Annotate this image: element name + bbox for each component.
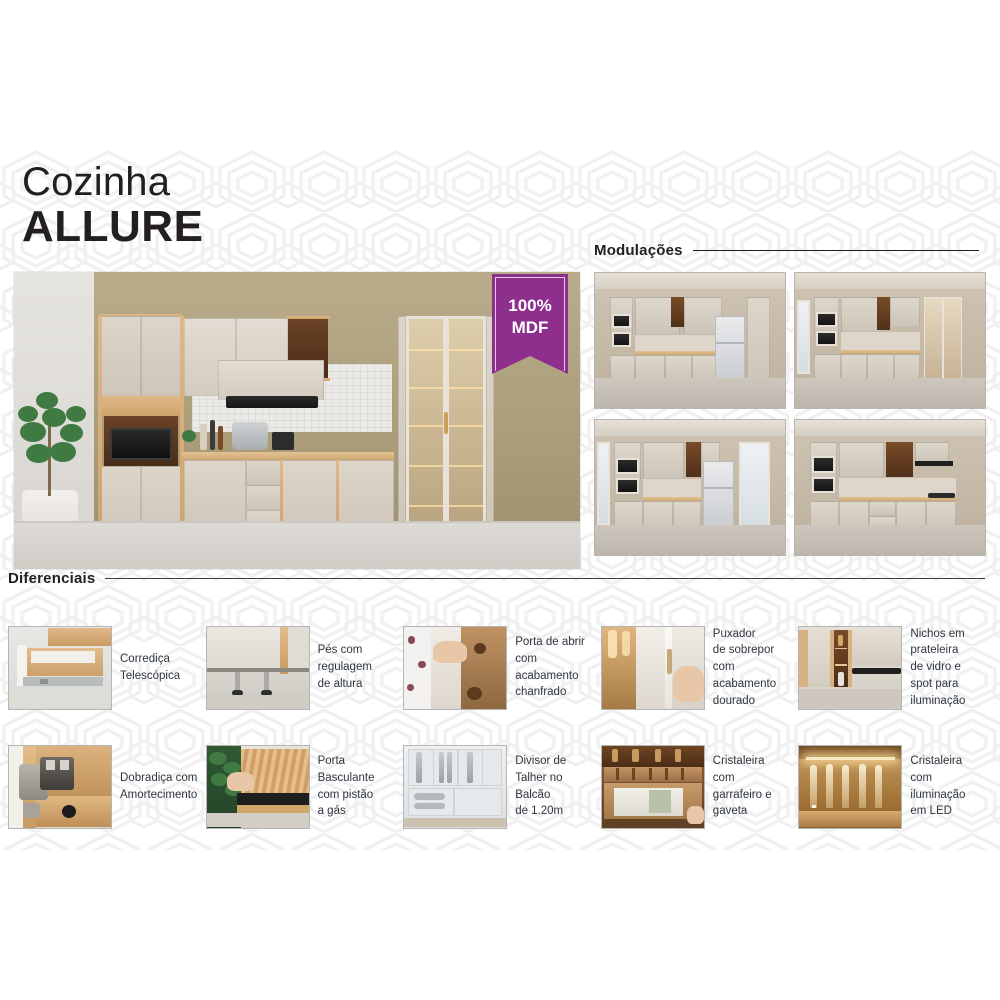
feature-label: CorrediçaTelescópica — [120, 651, 180, 684]
product-sheet-page: Cozinha ALLURE — [0, 150, 1000, 850]
heading-rule — [693, 250, 979, 252]
feature-item[interactable]: Porta de abrircomacabamentochanfrado — [403, 612, 597, 723]
feature-label: Puxadorde sobreporcomacabamentodourado — [713, 626, 776, 709]
feature-label: Porta de abrircomacabamentochanfrado — [515, 634, 585, 701]
feature-label: Cristaleiracomgarrafeiro egaveta — [713, 753, 772, 820]
adjustable-feet-icon — [206, 626, 310, 710]
features-grid: CorrediçaTelescópica Pés comregulagemde … — [8, 612, 992, 842]
modulations-grid — [594, 272, 986, 556]
badge-percent: 100% — [492, 296, 568, 316]
gas-piston-door-icon — [206, 745, 310, 829]
feature-item[interactable]: Puxadorde sobreporcomacabamentodourado — [601, 612, 795, 723]
led-cabinet-icon — [798, 745, 902, 829]
feature-item[interactable]: Pés comregulagemde altura — [206, 612, 400, 723]
feature-label: Cristaleiracomiluminaçãoem LED — [910, 753, 965, 820]
feature-item[interactable]: PortaBasculantecom pistãoa gás — [206, 731, 400, 842]
heading-rule — [105, 578, 985, 580]
feature-item[interactable]: CorrediçaTelescópica — [8, 612, 202, 723]
beveled-door-icon — [403, 626, 507, 710]
feature-item[interactable]: Cristaleiracomiluminaçãoem LED — [798, 731, 992, 842]
page-title: Cozinha ALLURE — [22, 162, 203, 250]
badge-material: MDF — [492, 318, 568, 338]
feature-item[interactable]: Cristaleiracomgarrafeiro egaveta — [601, 731, 795, 842]
feature-label: Dobradiça comAmortecimento — [120, 770, 197, 803]
feature-label: Divisor deTalher noBalcãode 1.20m — [515, 753, 566, 820]
feature-label: Pés comregulagemde altura — [318, 642, 372, 692]
soft-close-hinge-icon — [8, 745, 112, 829]
drawer-slide-icon — [8, 626, 112, 710]
section-heading-modulacoes: Modulações — [594, 242, 986, 259]
gold-handle-icon — [601, 626, 705, 710]
diferenciais-label: Diferenciais — [8, 570, 95, 587]
section-heading-diferenciais: Diferenciais — [8, 570, 988, 587]
modulation-thumb[interactable] — [594, 419, 786, 556]
modulacoes-label: Modulações — [594, 242, 683, 259]
wine-rack-drawer-icon — [601, 745, 705, 829]
title-line-allure: ALLURE — [22, 204, 203, 250]
feature-item[interactable]: Nichos emprateleirade vidro espot parail… — [798, 612, 992, 723]
feature-label: PortaBasculantecom pistãoa gás — [318, 753, 375, 820]
cutlery-divider-icon — [403, 745, 507, 829]
glass-niche-icon — [798, 626, 902, 710]
modulation-thumb[interactable] — [794, 419, 986, 556]
feature-item[interactable]: Divisor deTalher noBalcãode 1.20m — [403, 731, 597, 842]
feature-label: Nichos emprateleirade vidro espot parail… — [910, 626, 965, 709]
modulation-thumb[interactable] — [794, 272, 986, 409]
feature-item[interactable]: Dobradiça comAmortecimento — [8, 731, 202, 842]
title-line-cozinha: Cozinha — [22, 162, 203, 202]
modulation-thumb[interactable] — [594, 272, 786, 409]
